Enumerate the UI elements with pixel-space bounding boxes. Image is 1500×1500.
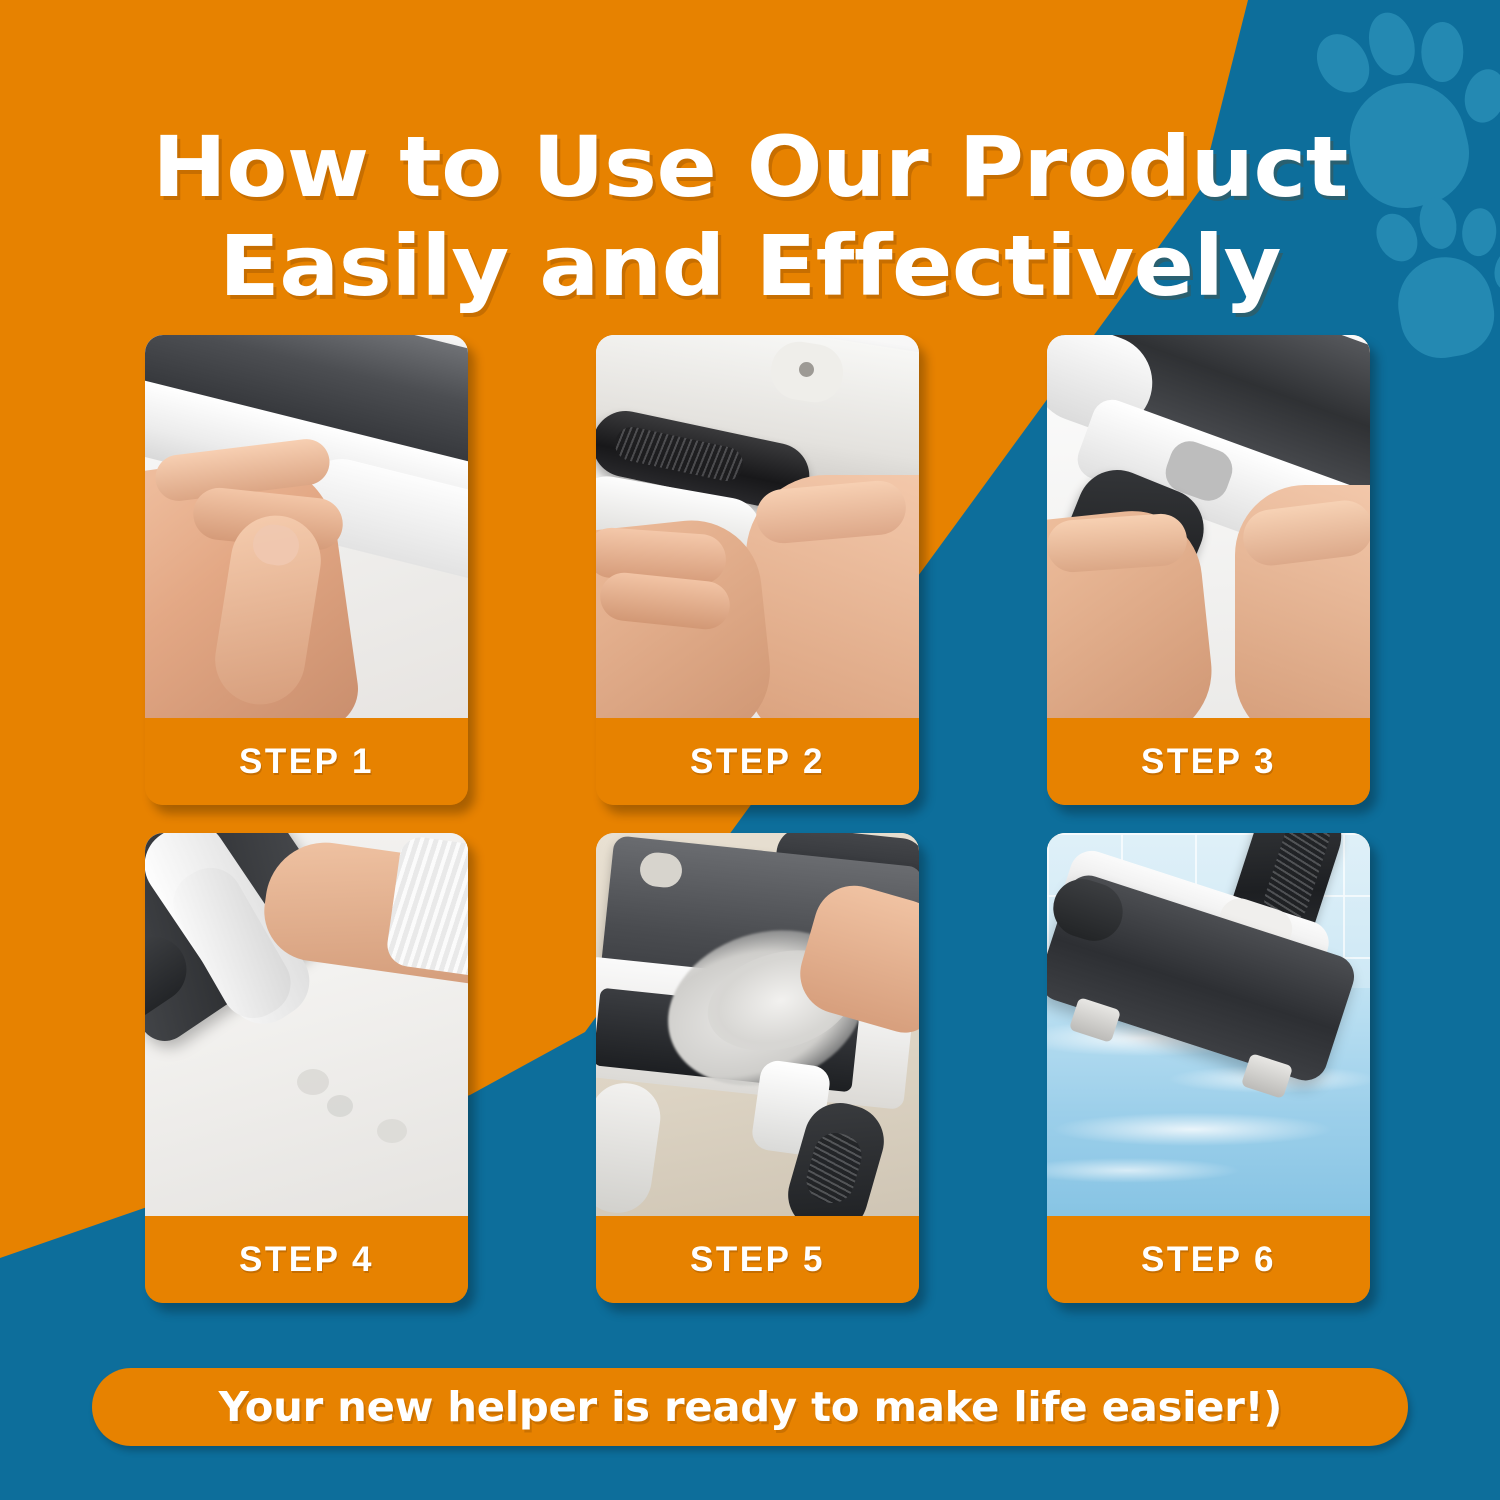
step-photo-2 — [596, 335, 919, 718]
page-title: How to Use Our Product Easily and Effect… — [0, 118, 1500, 316]
step-photo-5 — [596, 833, 919, 1216]
steps-row-bottom: STEP 4 — [145, 833, 1370, 1303]
steps-row-top: STEP 1 — [145, 335, 1370, 805]
step-photo-3 — [1047, 335, 1370, 718]
step-label-5: STEP 5 — [596, 1216, 919, 1303]
step-photo-1 — [145, 335, 468, 718]
step-card-5[interactable]: STEP 5 — [596, 833, 919, 1303]
step-label-1: STEP 1 — [145, 718, 468, 805]
step-card-6[interactable]: STEP 6 — [1047, 833, 1370, 1303]
step-card-4[interactable]: STEP 4 — [145, 833, 468, 1303]
footer-banner: Your new helper is ready to make life ea… — [92, 1368, 1408, 1446]
step-label-2: STEP 2 — [596, 718, 919, 805]
step-card-1[interactable]: STEP 1 — [145, 335, 468, 805]
step-photo-4 — [145, 833, 468, 1216]
footer-banner-text: Your new helper is ready to make life ea… — [218, 1383, 1282, 1431]
step-label-6: STEP 6 — [1047, 1216, 1370, 1303]
step-label-3: STEP 3 — [1047, 718, 1370, 805]
infographic-canvas: How to Use Our Product Easily and Effect… — [0, 0, 1500, 1500]
title-line-1: How to Use Our Product — [152, 118, 1348, 216]
step-label-4: STEP 4 — [145, 1216, 468, 1303]
step-card-3[interactable]: STEP 3 — [1047, 335, 1370, 805]
step-card-2[interactable]: STEP 2 — [596, 335, 919, 805]
title-line-2: Easily and Effectively — [0, 217, 1500, 316]
steps-grid: STEP 1 — [145, 335, 1370, 1303]
step-photo-6 — [1047, 833, 1370, 1216]
